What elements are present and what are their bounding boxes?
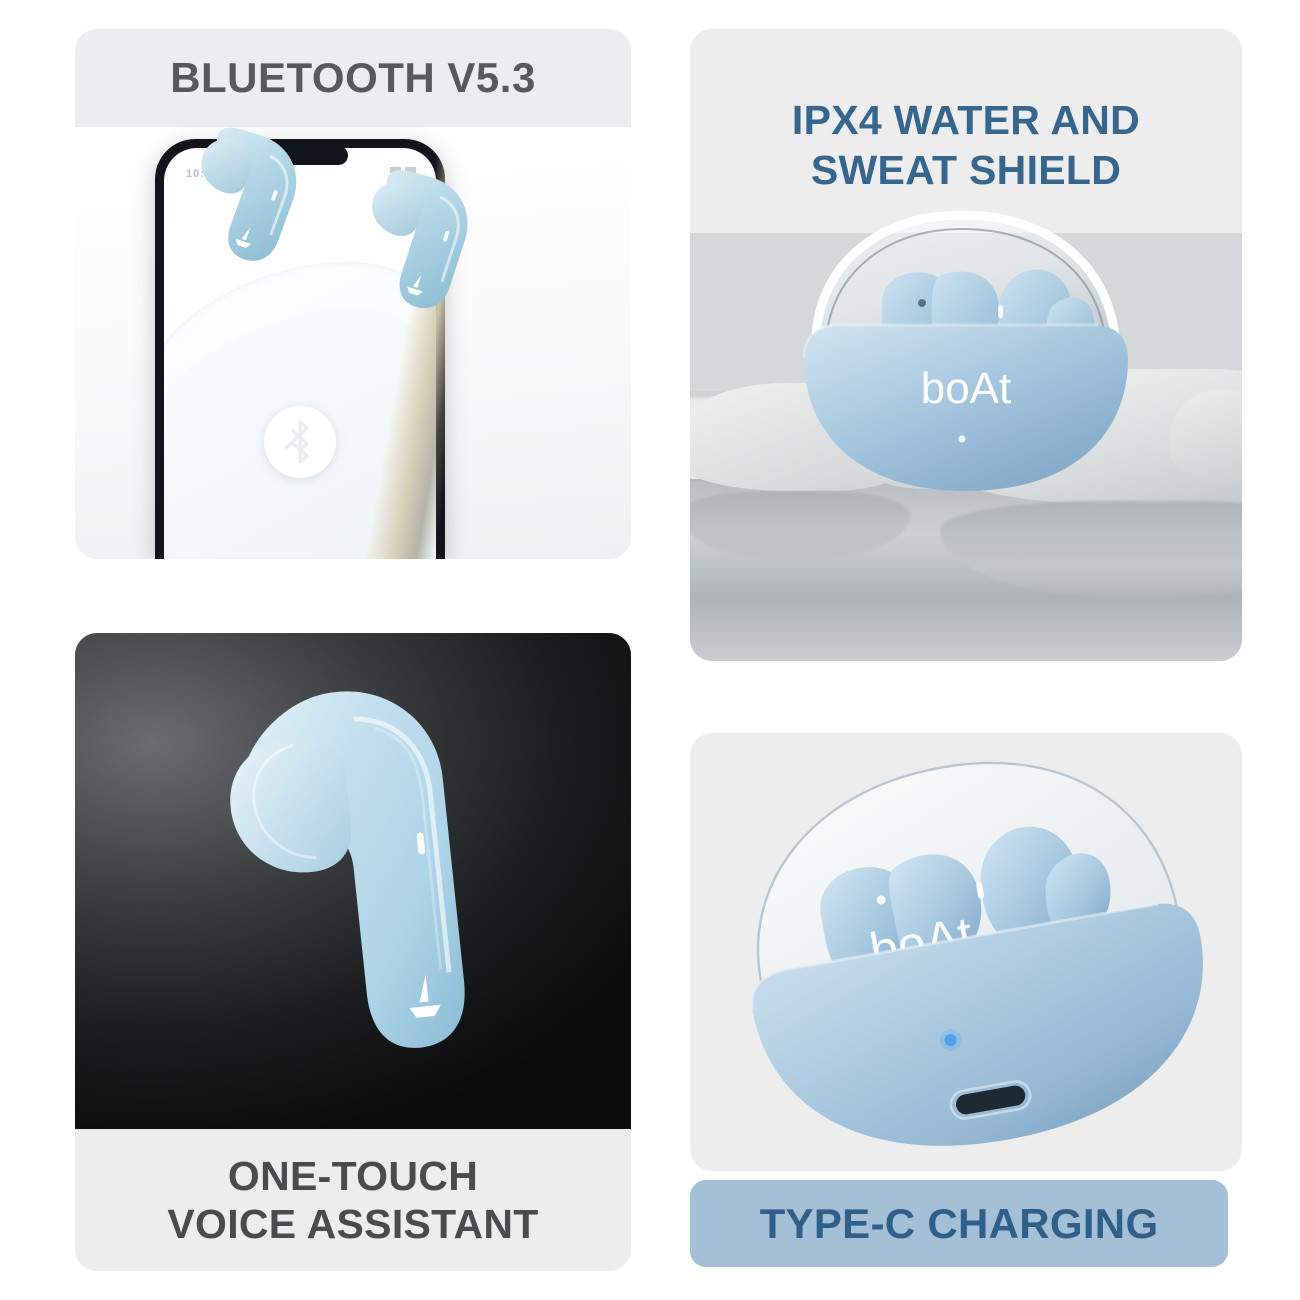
feature-grid: BLUETOOTH V5.3 10:10	[0, 0, 1300, 1300]
charging-case-typec: boAt	[712, 739, 1232, 1169]
panel-bluetooth-title: BLUETOOTH V5.3	[170, 54, 536, 102]
type-c-charging-banner: TYPE-C CHARGING	[690, 1180, 1228, 1267]
panel-ipx4-title-line1: IPX4 WATER AND	[792, 97, 1140, 145]
panel-voice-assistant-footer: ONE-TOUCH VOICE ASSISTANT	[75, 1129, 631, 1271]
panel-ipx4: IPX4 WATER AND SWEAT SHIELD	[690, 29, 1242, 661]
panel-bluetooth-image: 10:10	[75, 127, 631, 559]
panel-ipx4-header: IPX4 WATER AND SWEAT SHIELD	[690, 29, 1242, 233]
panel-bluetooth: BLUETOOTH V5.3 10:10	[75, 29, 631, 559]
boat-wordmark: boAt	[921, 364, 1012, 413]
panel-voice-assistant-title-line2: VOICE ASSISTANT	[167, 1200, 538, 1248]
charging-case-open: boAt	[786, 207, 1146, 507]
panel-voice-assistant-title-line1: ONE-TOUCH	[228, 1152, 478, 1200]
panel-voice-assistant-image	[75, 633, 631, 1129]
arctic-scene: boAt	[690, 233, 1242, 661]
panel-type-c: boAt	[690, 733, 1242, 1171]
panel-ipx4-title-line2: SWEAT SHIELD	[811, 147, 1121, 195]
earbud-right	[290, 149, 540, 399]
led-indicator	[958, 435, 965, 442]
panel-voice-assistant: ONE-TOUCH VOICE ASSISTANT	[75, 633, 631, 1271]
type-c-charging-label: TYPE-C CHARGING	[760, 1200, 1159, 1248]
earbud-hero	[195, 661, 525, 1101]
